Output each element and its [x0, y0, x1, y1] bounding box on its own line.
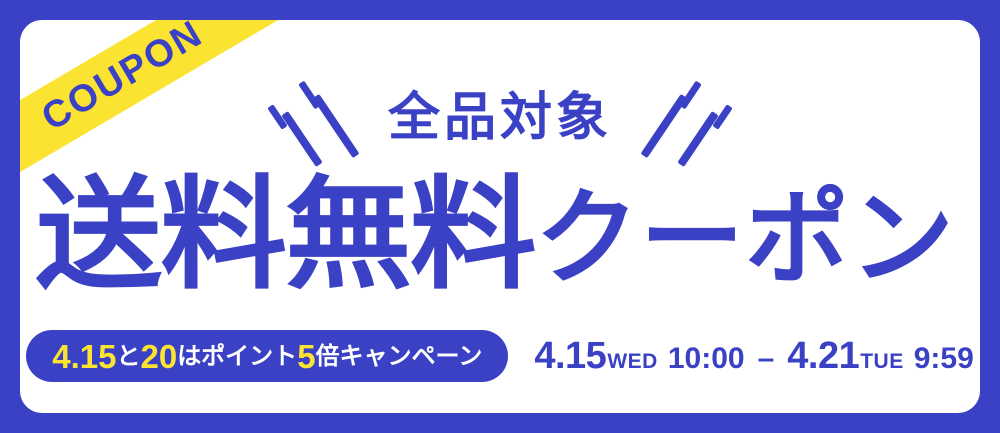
slash-icon	[281, 111, 322, 167]
pill-particle: はポイント	[177, 345, 297, 369]
subtitle-text: 全品対象	[388, 92, 612, 144]
headline: 送料無料 クーポン	[20, 170, 980, 300]
pill-multiplier: 5	[297, 340, 315, 373]
bottom-row: 4.15 と 20 はポイント 5 倍キャンペーン 4.15 WED 10:00…	[20, 325, 980, 387]
campaign-pill: 4.15 と 20 はポイント 5 倍キャンペーン	[26, 330, 508, 382]
headline-kana: クーポン	[535, 187, 955, 291]
coupon-banner: COUPON 全品対象 送料無料 クーポン	[0, 0, 1000, 433]
period-end-date: 4.21	[787, 337, 859, 375]
slash-icon	[641, 94, 688, 158]
slash-icon	[677, 111, 718, 167]
period-end-dow: TUE	[860, 351, 904, 372]
pill-suffix: 倍キャンペーン	[316, 345, 483, 369]
period-start-date: 4.15	[534, 337, 606, 375]
decorative-slashes-left	[270, 72, 362, 164]
headline-kanji: 送料無料	[35, 174, 534, 296]
period-end-time: 9:59	[914, 344, 974, 374]
slash-icon	[313, 94, 360, 158]
pill-date-1: 4.15	[52, 340, 116, 373]
pill-date-2: 20	[140, 340, 177, 373]
period-dash: –	[758, 344, 775, 374]
pill-conjunction: と	[116, 345, 140, 369]
period-text: 4.15 WED 10:00 – 4.21 TUE 9:59	[534, 337, 973, 375]
decorative-slashes-right	[638, 72, 730, 164]
banner-inner-panel: COUPON 全品対象 送料無料 クーポン	[20, 20, 980, 413]
period-start-time: 10:00	[668, 344, 745, 374]
period-start-dow: WED	[607, 351, 658, 372]
